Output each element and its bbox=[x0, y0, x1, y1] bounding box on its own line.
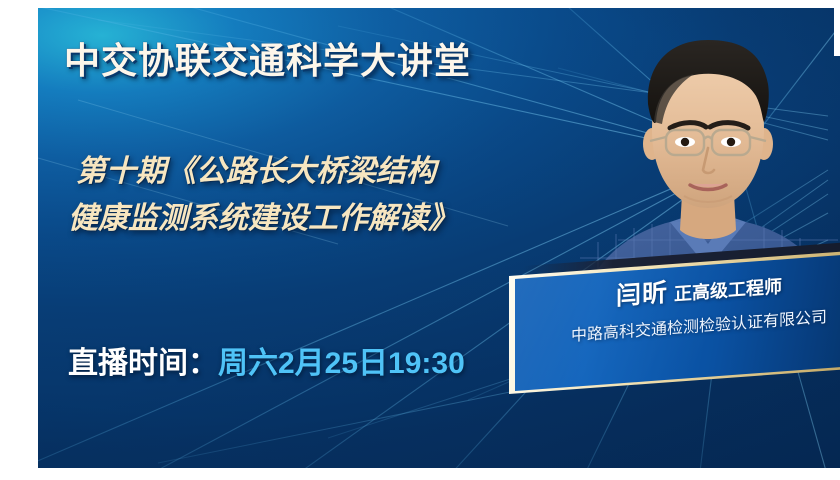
live-time-row: 直播时间：周六2月25日19:30 bbox=[68, 338, 465, 382]
poster-root: 中交协联交通科学大讲堂 第十期《公路长大桥梁结构 健康监测系统建设工作解读》 直… bbox=[0, 0, 840, 480]
right-edge-white-strip bbox=[834, 8, 840, 56]
live-time-label: 直播时间： bbox=[68, 347, 218, 380]
poster-subtitle: 第十期《公路长大桥梁结构 健康监测系统建设工作解读》 bbox=[76, 148, 458, 242]
subtitle-line-2: 健康监测系统建设工作解读》 bbox=[68, 195, 458, 242]
subtitle-line-1: 第十期《公路长大桥梁结构 bbox=[76, 155, 436, 188]
live-time-value: 周六2月25日19:30 bbox=[218, 347, 465, 380]
poster-artboard: 中交协联交通科学大讲堂 第十期《公路长大桥梁结构 健康监测系统建设工作解读》 直… bbox=[38, 8, 840, 468]
speaker-nameplate: 闫昕正高级工程师 中路高科交通检测检验认证有限公司 bbox=[493, 266, 840, 406]
poster-headline: 中交协联交通科学大讲堂 bbox=[64, 32, 471, 84]
